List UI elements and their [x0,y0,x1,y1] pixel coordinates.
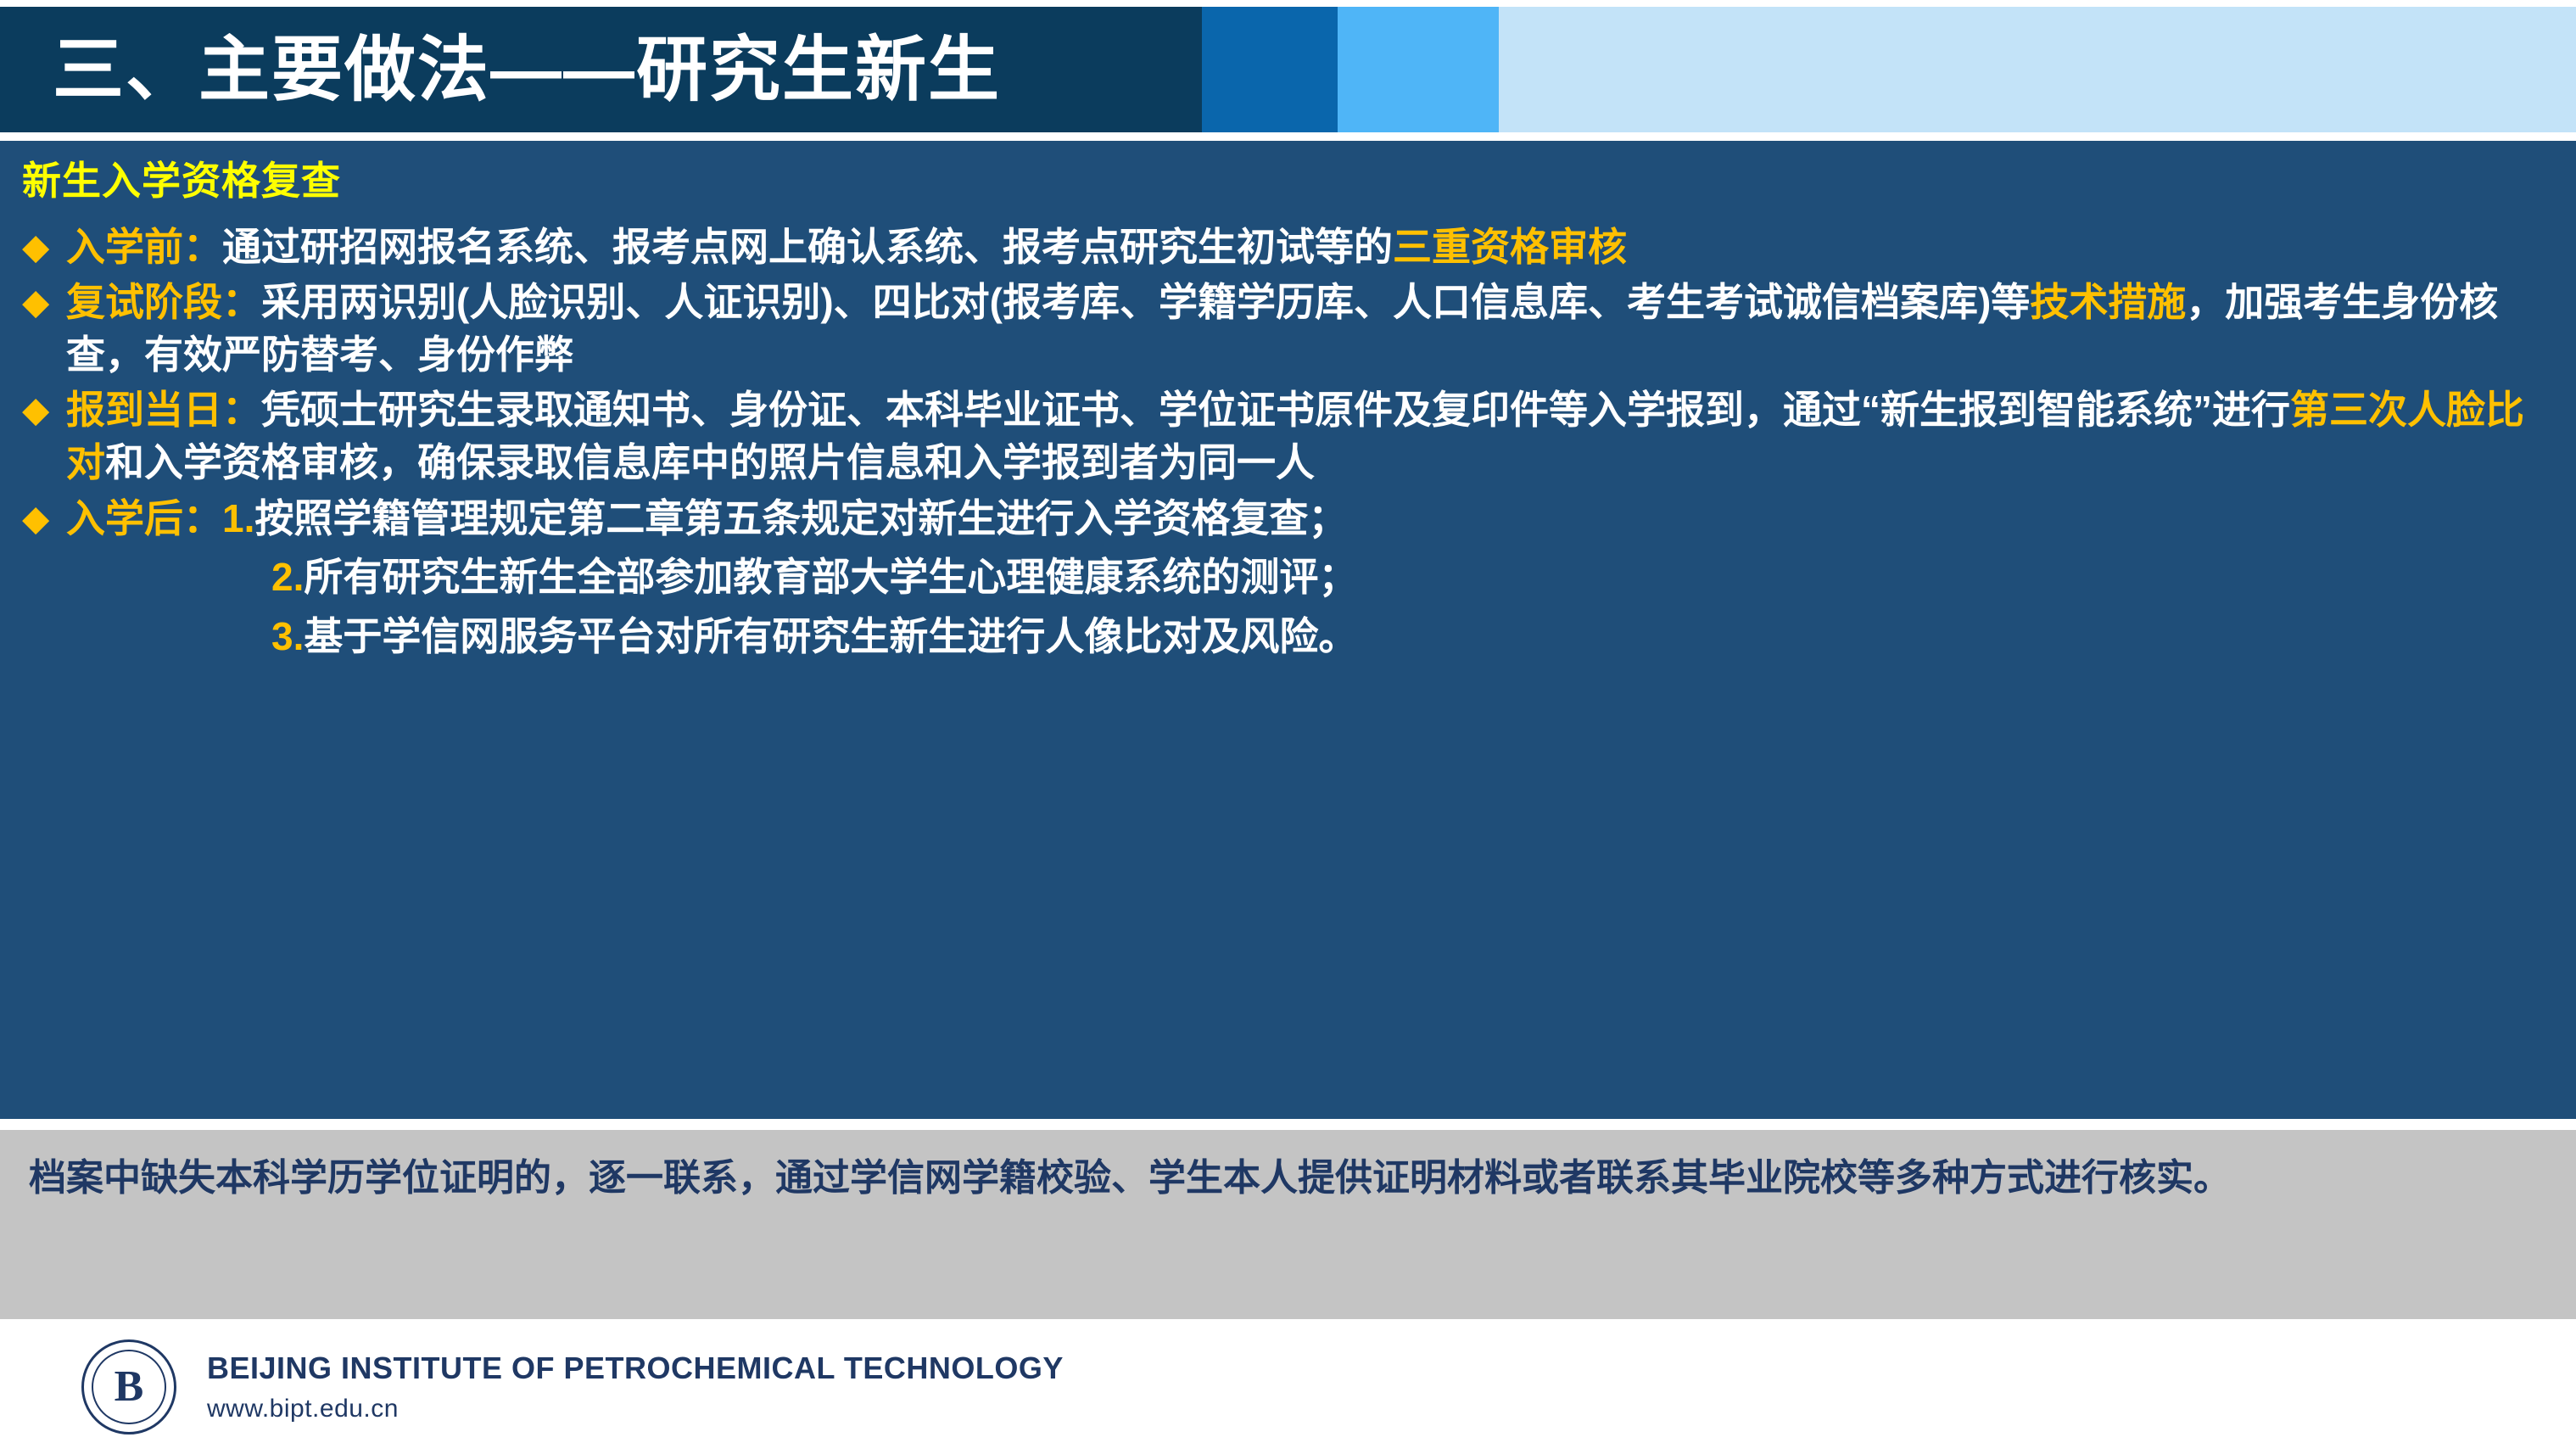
bullet-text-before: 采用两识别(人脸识别、人证识别)、四比对(报考库、学籍学历库、人口信息库、考生考… [261,280,2030,324]
header-title-band: 三、主要做法——研究生新生 [0,7,1202,132]
header-color-band-c [1338,7,1499,132]
bullet-label: 入学后： [66,496,222,540]
bullet-highlight: 技术措施 [2030,280,2186,324]
header-color-band-b [1202,7,1338,132]
diamond-bullet-icon: ◆ [22,493,66,542]
sub-item-indent [22,611,271,663]
sub-item-text: 按照学籍管理规定第二章第五条规定对新生进行入学资格复查； [254,496,1347,540]
diamond-bullet-icon: ◆ [22,277,66,326]
sub-item-text: 所有研究生新生全部参加教育部大学生心理健康系统的测评； [304,555,1357,599]
slide-header: 三、主要做法——研究生新生 [0,7,2576,132]
bullet-body: 入学后：1.按照学籍管理规定第二章第五条规定对新生进行入学资格复查； [66,493,2554,545]
note-text: 档案中缺失本科学历学位证明的，逐一联系，通过学信网学籍校验、学生本人提供证明材料… [29,1152,2547,1205]
sub-item: 3.基于学信网服务平台对所有研究生新生进行人像比对及风险。 [22,611,2554,663]
header-color-band-d [1499,7,2576,132]
bullet-text-before: 凭硕士研究生录取通知书、身份证、本科毕业证书、学位证书原件及复印件等入学报到，通… [261,388,2290,432]
content-panel: 新生入学资格复查 ◆ 入学前：通过研招网报名系统、报考点网上确认系统、报考点研究… [0,141,2576,1119]
sub-item: 2.所有研究生新生全部参加教育部大学生心理健康系统的测评； [22,551,2554,604]
footer-text-block: BEIJING INSTITUTE OF PETROCHEMICAL TECHN… [207,1351,1064,1423]
bullet-text-before: 通过研招网报名系统、报考点网上确认系统、报考点研究生初试等的 [222,225,1393,269]
sub-item-text: 基于学信网服务平台对所有研究生新生进行人像比对及风险。 [304,614,1357,658]
bullet-item-numbered: ◆ 入学后：1.按照学籍管理规定第二章第五条规定对新生进行入学资格复查； [22,493,2554,545]
bullet-label: 报到当日： [66,388,261,432]
slide-footer: B BEIJING INSTITUTE OF PETROCHEMICAL TEC… [0,1319,2576,1454]
organization-url[interactable]: www.bipt.edu.cn [207,1395,1064,1423]
bullet-body: 入学前：通过研招网报名系统、报考点网上确认系统、报考点研究生初试等的三重资格审核 [66,221,2554,274]
bullet-highlight: 三重资格审核 [1393,225,1627,269]
bullet-item: ◆ 报到当日：凭硕士研究生录取通知书、身份证、本科毕业证书、学位证书原件及复印件… [22,384,2554,489]
bullet-label: 入学前： [66,225,222,269]
bullet-body: 复试阶段：采用两识别(人脸识别、人证识别)、四比对(报考库、学籍学历库、人口信息… [66,277,2554,381]
bipt-logo-icon: B [81,1339,176,1434]
sub-item-index: 3. [271,614,304,658]
page-title: 三、主要做法——研究生新生 [0,34,1001,105]
bullet-body: 报到当日：凭硕士研究生录取通知书、身份证、本科毕业证书、学位证书原件及复印件等入… [66,384,2554,489]
logo-letter: B [115,1365,144,1409]
slide-root: 三、主要做法——研究生新生 新生入学资格复查 ◆ 入学前：通过研招网报名系统、报… [0,0,2576,1454]
sub-item-index: 1. [222,496,254,540]
diamond-bullet-icon: ◆ [22,384,66,433]
sub-item-body: 3.基于学信网服务平台对所有研究生新生进行人像比对及风险。 [271,611,2554,663]
diamond-bullet-icon: ◆ [22,221,66,271]
bullet-text-after: 和入学资格审核，确保录取信息库中的照片信息和入学报到者为同一人 [105,440,1315,484]
bullet-item: ◆ 入学前：通过研招网报名系统、报考点网上确认系统、报考点研究生初试等的三重资格… [22,221,2554,274]
sub-item-index: 2. [271,555,304,599]
section-heading: 新生入学资格复查 [22,159,2554,203]
bullet-label: 复试阶段： [66,280,261,324]
note-panel: 档案中缺失本科学历学位证明的，逐一联系，通过学信网学籍校验、学生本人提供证明材料… [0,1126,2576,1319]
organization-name: BEIJING INSTITUTE OF PETROCHEMICAL TECHN… [207,1351,1064,1386]
bullet-item: ◆ 复试阶段：采用两识别(人脸识别、人证识别)、四比对(报考库、学籍学历库、人口… [22,277,2554,381]
sub-item-indent [22,551,271,604]
sub-item-body: 2.所有研究生新生全部参加教育部大学生心理健康系统的测评； [271,551,2554,604]
